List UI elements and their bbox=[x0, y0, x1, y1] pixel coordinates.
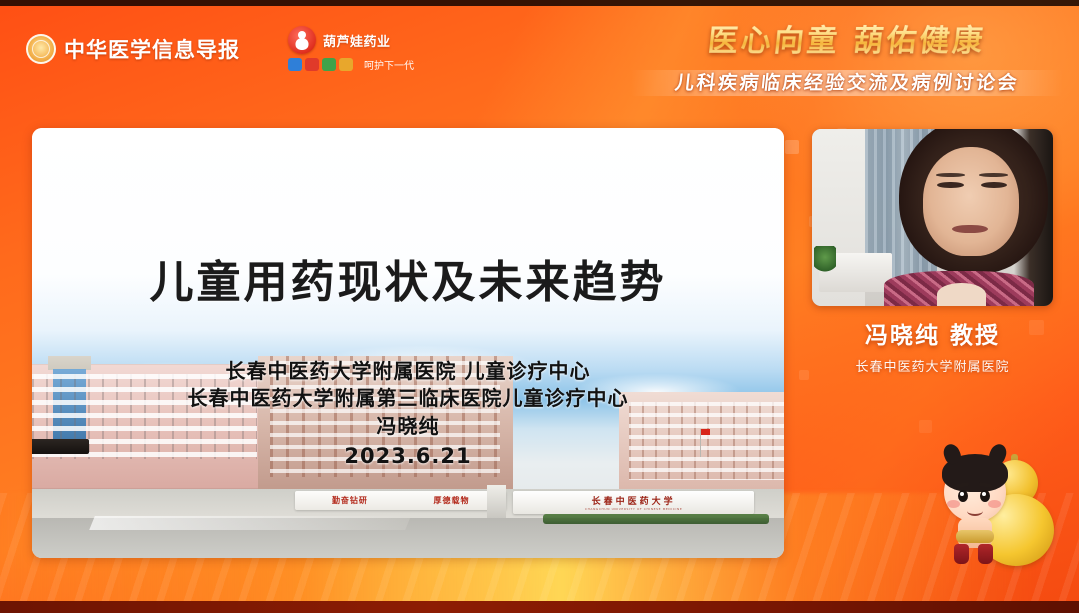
gourd-badge-icon bbox=[288, 26, 316, 54]
event-banner: 医心向童 葫佑健康 儿科疾病临床经验交流及病例讨论会 bbox=[637, 16, 1057, 98]
mascot-blush-left bbox=[947, 500, 960, 508]
wall-sign-left-text: 勤奋钻研 bbox=[332, 495, 368, 506]
green-chip-icon bbox=[322, 58, 336, 71]
calabash-boy-mascot bbox=[928, 440, 1058, 575]
event-subtitle-wrap: 儿科疾病临床经验交流及病例讨论会 bbox=[637, 68, 1057, 98]
sponsor-logo-group: 中华医学信息导报 葫芦娃药业 呵护下一代 bbox=[26, 26, 414, 72]
wall-sign-right-text: 厚德载物 bbox=[433, 495, 469, 506]
photo-wall-sign: 勤奋钻研 厚德载物 bbox=[295, 491, 506, 509]
photo-plaza bbox=[89, 516, 411, 530]
video-plant bbox=[814, 246, 836, 274]
mascot-boot-right bbox=[978, 544, 993, 564]
top-letterbox-bar bbox=[0, 0, 1079, 6]
speaker-video-feed[interactable] bbox=[812, 129, 1053, 306]
logo-color-chips bbox=[288, 58, 353, 71]
slide-title: 儿童用药现状及未来趋势 bbox=[32, 246, 784, 310]
mascot-blush-right bbox=[988, 500, 1001, 508]
mascot-eye-right bbox=[980, 490, 990, 502]
yellow-chip-icon bbox=[339, 58, 353, 71]
logo-secondary-line2: 呵护下一代 bbox=[364, 57, 414, 72]
bottom-letterbox-bar bbox=[0, 601, 1079, 613]
medical-seal-icon bbox=[26, 34, 56, 64]
mascot-mouth bbox=[967, 506, 983, 516]
event-title: 医心向童 葫佑健康 bbox=[635, 16, 1060, 60]
slide-line-3: 冯晓纯 bbox=[32, 412, 784, 441]
broadcast-stage: 中华医学信息导报 葫芦娃药业 呵护下一代 医心向童 葫佑健康 儿科疾病临床经 bbox=[0, 0, 1079, 613]
logo-gourd-pharma: 葫芦娃药业 呵护下一代 bbox=[288, 26, 414, 72]
mascot-boot-left bbox=[954, 544, 969, 564]
photo-gate-post bbox=[487, 485, 506, 517]
slide-line-2: 长春中医药大学附属第三临床医院儿童诊疗中心 bbox=[32, 385, 784, 412]
video-speaker-brow-right bbox=[979, 173, 1008, 177]
event-subtitle: 儿科疾病临床经验交流及病例讨论会 bbox=[635, 68, 1058, 98]
red-chip-icon bbox=[305, 58, 319, 71]
slide-subtitle-block: 长春中医药大学附属医院 儿童诊疗中心 长春中医药大学附属第三临床医院儿童诊疗中心… bbox=[32, 358, 784, 471]
logo-chinese-medical-journal: 中华医学信息导报 bbox=[26, 34, 240, 64]
gate-sign-cn: 长春中医药大学 bbox=[592, 494, 676, 507]
speaker-organization: 长春中医药大学附属医院 bbox=[812, 356, 1053, 375]
speaker-caption: 冯晓纯 教授 长春中医药大学附属医院 bbox=[812, 316, 1053, 375]
speaker-name: 冯晓纯 教授 bbox=[812, 316, 1053, 350]
gate-sign-en: CHANGCHUN UNIVERSITY OF CHINESE MEDICINE bbox=[585, 507, 682, 511]
photo-gate-sign: 长春中医药大学 CHANGCHUN UNIVERSITY OF CHINESE … bbox=[513, 491, 754, 513]
logo-primary-text: 中华医学信息导报 bbox=[64, 34, 240, 64]
presentation-slide[interactable]: 勤奋钻研 厚德载物 长春中医药大学 CHANGCHUN UNIVERSITY O… bbox=[32, 128, 784, 558]
video-speaker-brow-left bbox=[936, 173, 965, 177]
video-speaker-collar bbox=[937, 283, 985, 306]
mascot-child-figure bbox=[934, 446, 1016, 570]
mascot-eye-left bbox=[958, 490, 968, 502]
slide-line-1: 长春中医药大学附属医院 儿童诊疗中心 bbox=[32, 358, 784, 385]
video-speaker-face bbox=[923, 147, 1019, 257]
photo-hedge bbox=[543, 514, 769, 524]
blue-chip-icon bbox=[288, 58, 302, 71]
mascot-leaf-skirt bbox=[956, 530, 994, 543]
logo-secondary-line1: 葫芦娃药业 bbox=[323, 31, 391, 50]
slide-line-4: 2023.6.21 bbox=[32, 441, 784, 471]
